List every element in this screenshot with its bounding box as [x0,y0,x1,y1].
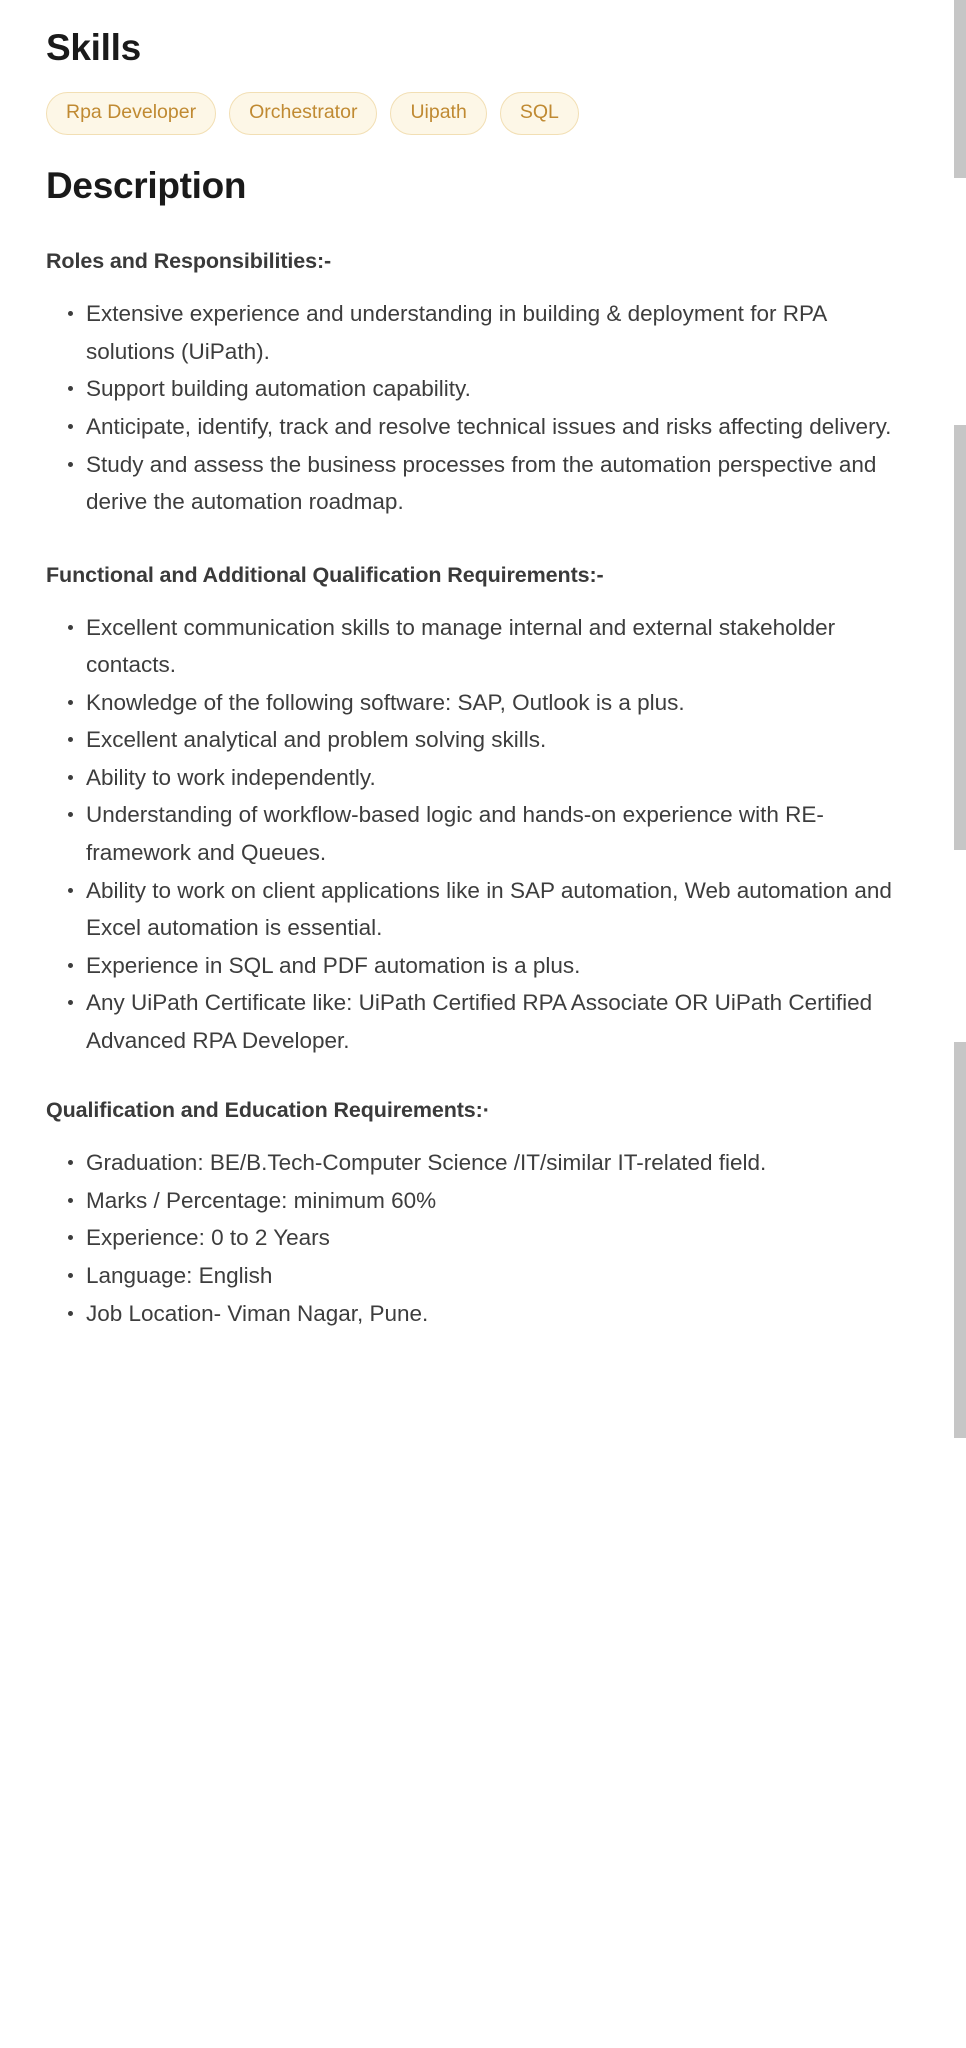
bullet-item: Support building automation capability. [46,370,926,408]
bullet-item: Excellent analytical and problem solving… [46,721,926,759]
bullet-item: Knowledge of the following software: SAP… [46,684,926,722]
bullet-item: Graduation: BE/B.Tech-Computer Science /… [46,1144,926,1182]
bullet-item: Language: English [46,1257,926,1295]
skill-tag[interactable]: Rpa Developer [46,92,216,135]
skill-tag[interactable]: SQL [500,92,579,135]
description-subheading: Qualification and Education Requirements… [46,1097,926,1125]
description-body: Roles and Responsibilities:-Extensive ex… [46,248,926,1332]
description-bullet-list: Graduation: BE/B.Tech-Computer Science /… [46,1144,926,1332]
scrollbar-thumb[interactable] [954,1042,966,1438]
skill-tag[interactable]: Orchestrator [229,92,377,135]
description-heading: Description [46,166,926,207]
vertical-scrollbar[interactable] [954,0,966,2048]
bullet-item: Experience in SQL and PDF automation is … [46,947,926,985]
description-bullet-list: Excellent communication skills to manage… [46,609,926,1060]
bullet-item: Study and assess the business processes … [46,446,926,521]
bullet-item: Ability to work on client applications l… [46,872,926,947]
skill-tag[interactable]: Uipath [390,92,486,135]
bullet-item: Marks / Percentage: minimum 60% [46,1182,926,1220]
bullet-item: Excellent communication skills to manage… [46,609,926,684]
description-bullet-list: Extensive experience and understanding i… [46,295,926,520]
bullet-item: Understanding of workflow-based logic an… [46,796,926,871]
skills-heading: Skills [46,0,926,69]
description-subheading: Functional and Additional Qualification … [46,562,926,590]
bullet-item: Any UiPath Certificate like: UiPath Cert… [46,984,926,1059]
scrollbar-thumb[interactable] [954,425,966,850]
bullet-item: Experience: 0 to 2 Years [46,1219,926,1257]
bullet-item: Extensive experience and understanding i… [46,295,926,370]
bullet-item: Ability to work independently. [46,759,926,797]
job-description-page: Skills Rpa DeveloperOrchestratorUipathSQ… [0,0,966,2048]
scrollbar-thumb[interactable] [954,0,966,178]
bullet-item: Job Location- Viman Nagar, Pune. [46,1295,926,1333]
bullet-item: Anticipate, identify, track and resolve … [46,408,926,446]
description-subheading: Roles and Responsibilities:- [46,248,926,276]
skills-tag-list: Rpa DeveloperOrchestratorUipathSQL [46,92,926,135]
